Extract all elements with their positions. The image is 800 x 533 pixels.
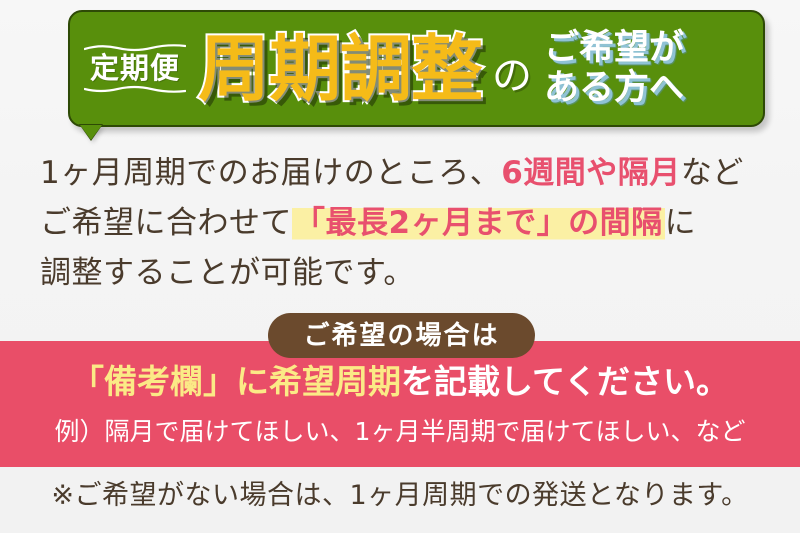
instruction-headline-rest: を記載してください。 (401, 362, 729, 401)
status-badge-label: ご希望の場合は (303, 323, 499, 349)
subscription-badge-label: 定期便 (90, 51, 180, 85)
header-content: 定期便 周期調整 の ご希望が ある方へ (70, 12, 763, 125)
page-title: 周期調整 (198, 33, 482, 105)
header-subtitle-line1: ご希望が (544, 29, 684, 68)
wave-line-top-icon (84, 43, 186, 52)
instruction-headline: 「備考欄」に希望周期を記載してください。 (0, 365, 800, 398)
body-line-2-emphasis: 「最長2ヶ月まで」の間隔 (292, 205, 665, 241)
body-line-1: 1ヶ月周期でのお届けのところ、6週間や隔月など (40, 148, 770, 198)
footer-note: ※ご希望がない場合は、1ヶ月周期での発送となります。 (0, 482, 800, 509)
body-line-2-pre: ご希望に合わせて (40, 205, 292, 241)
wave-line-bottom-icon (84, 85, 186, 94)
body-line-3: 調整することが可能です。 (40, 248, 770, 298)
banner-canvas: 定期便 周期調整 の ご希望が ある方へ (0, 0, 800, 533)
instruction-band: 「備考欄」に希望周期を記載してください。 例）隔月で届けてほしい、1ヶ月半周期で… (0, 341, 800, 467)
body-line-1-emphasis: 6週間や隔月 (501, 155, 681, 191)
header-bubble-box: 定期便 周期調整 の ご希望が ある方へ (68, 10, 765, 127)
body-line-2: ご希望に合わせて「最長2ヶ月まで」の間隔に (40, 198, 770, 248)
body-line-2-post: に (665, 205, 697, 241)
title-particle: の (492, 56, 532, 96)
header-title-group: 周期調整 の ご希望が ある方へ (198, 29, 684, 107)
instruction-example: 例）隔月で届けてほしい、1ヶ月半周期で届けてほしい、など (0, 419, 800, 444)
header-bubble: 定期便 周期調整 の ご希望が ある方へ (68, 10, 765, 127)
subscription-badge: 定期便 (86, 41, 184, 96)
header-subtitle-line2: ある方へ (544, 69, 684, 108)
body-line-1-post: など (681, 155, 744, 191)
body-line-1-pre: 1ヶ月周期でのお届けのところ、 (40, 155, 501, 191)
status-badge: ご希望の場合は (268, 313, 535, 358)
header-subtitle: ご希望が ある方へ (544, 29, 684, 107)
bubble-tail (80, 125, 102, 140)
instruction-headline-emphasis: 「備考欄」に希望周期 (71, 362, 401, 401)
body-paragraph: 1ヶ月周期でのお届けのところ、6週間や隔月など ご希望に合わせて「最長2ヶ月まで… (40, 148, 770, 298)
